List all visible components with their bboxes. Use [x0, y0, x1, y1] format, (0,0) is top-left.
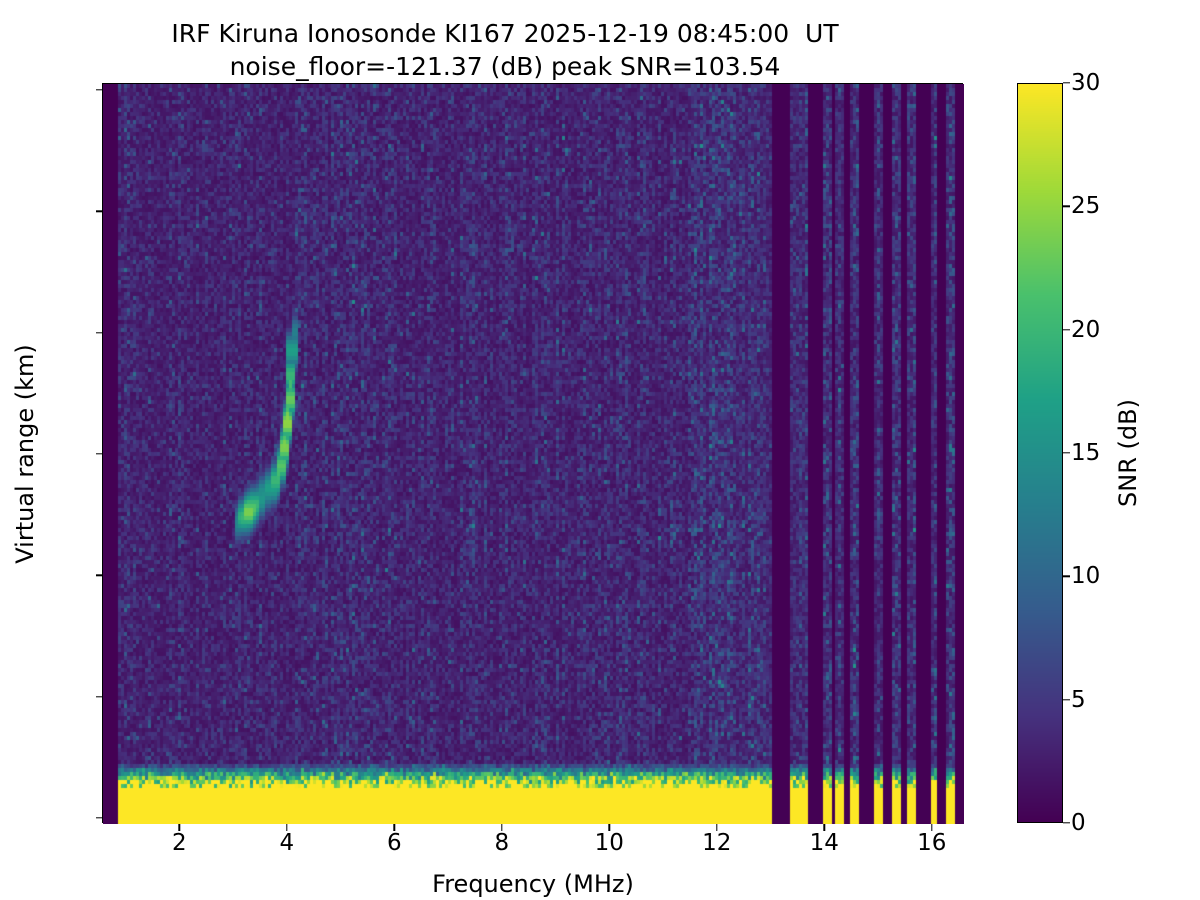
x-tick-mark	[824, 824, 825, 831]
y-tick-mark	[96, 332, 103, 333]
y-tick-mark	[96, 696, 103, 697]
x-tick-mark	[179, 824, 180, 831]
x-tick-label: 4	[279, 830, 294, 856]
x-tick-mark	[716, 824, 717, 831]
colorbar-tick-label: 20	[1071, 317, 1100, 343]
x-axis-label: Frequency (MHz)	[432, 870, 634, 898]
x-tick-label: 2	[172, 830, 187, 856]
x-tick-label: 14	[810, 830, 839, 856]
y-tick-mark	[96, 575, 103, 576]
y-axis-label: Virtual range (km)	[11, 344, 39, 563]
colorbar-tick-mark	[1063, 329, 1070, 330]
title-line-2: noise_floor=-121.37 (dB) peak SNR=103.54	[0, 51, 1010, 84]
colorbar-tick-label: 30	[1071, 70, 1100, 96]
x-tick-mark	[609, 824, 610, 831]
title-line-1: IRF Kiruna Ionosonde KI167 2025-12-19 08…	[0, 18, 1010, 51]
colorbar-tick-mark	[1063, 699, 1070, 700]
x-tick-label: 8	[494, 830, 509, 856]
colorbar-gradient	[1018, 84, 1062, 822]
colorbar-tick-label: 25	[1071, 193, 1100, 219]
x-tick-mark	[286, 824, 287, 831]
x-tick-label: 6	[387, 830, 402, 856]
x-tick-label: 10	[595, 830, 624, 856]
y-tick-mark	[96, 211, 103, 212]
colorbar	[1017, 83, 1063, 823]
ionogram-figure: IRF Kiruna Ionosonde KI167 2025-12-19 08…	[0, 0, 1200, 900]
x-tick-mark	[931, 824, 932, 831]
colorbar-tick-label: 0	[1071, 810, 1086, 836]
colorbar-label: SNR (dB)	[1114, 399, 1142, 507]
y-tick-mark	[96, 817, 103, 818]
x-tick-label: 12	[702, 830, 731, 856]
x-tick-mark	[501, 824, 502, 831]
colorbar-tick-label: 5	[1071, 687, 1086, 713]
colorbar-tick-label: 15	[1071, 440, 1100, 466]
colorbar-tick-mark	[1063, 452, 1070, 453]
colorbar-tick-mark	[1063, 206, 1070, 207]
ionogram-plot-area: 0100200300400500600 246810121416 Virtual…	[102, 83, 963, 823]
colorbar-tick-mark	[1063, 82, 1070, 83]
colorbar-tick-mark	[1063, 576, 1070, 577]
x-tick-mark	[394, 824, 395, 831]
colorbar-tick-label: 10	[1071, 563, 1100, 589]
y-tick-mark	[96, 89, 103, 90]
ionogram-heatmap	[103, 84, 964, 824]
colorbar-tick-mark	[1063, 822, 1070, 823]
figure-title: IRF Kiruna Ionosonde KI167 2025-12-19 08…	[0, 18, 1010, 83]
x-tick-label: 16	[917, 830, 946, 856]
y-tick-mark	[96, 453, 103, 454]
